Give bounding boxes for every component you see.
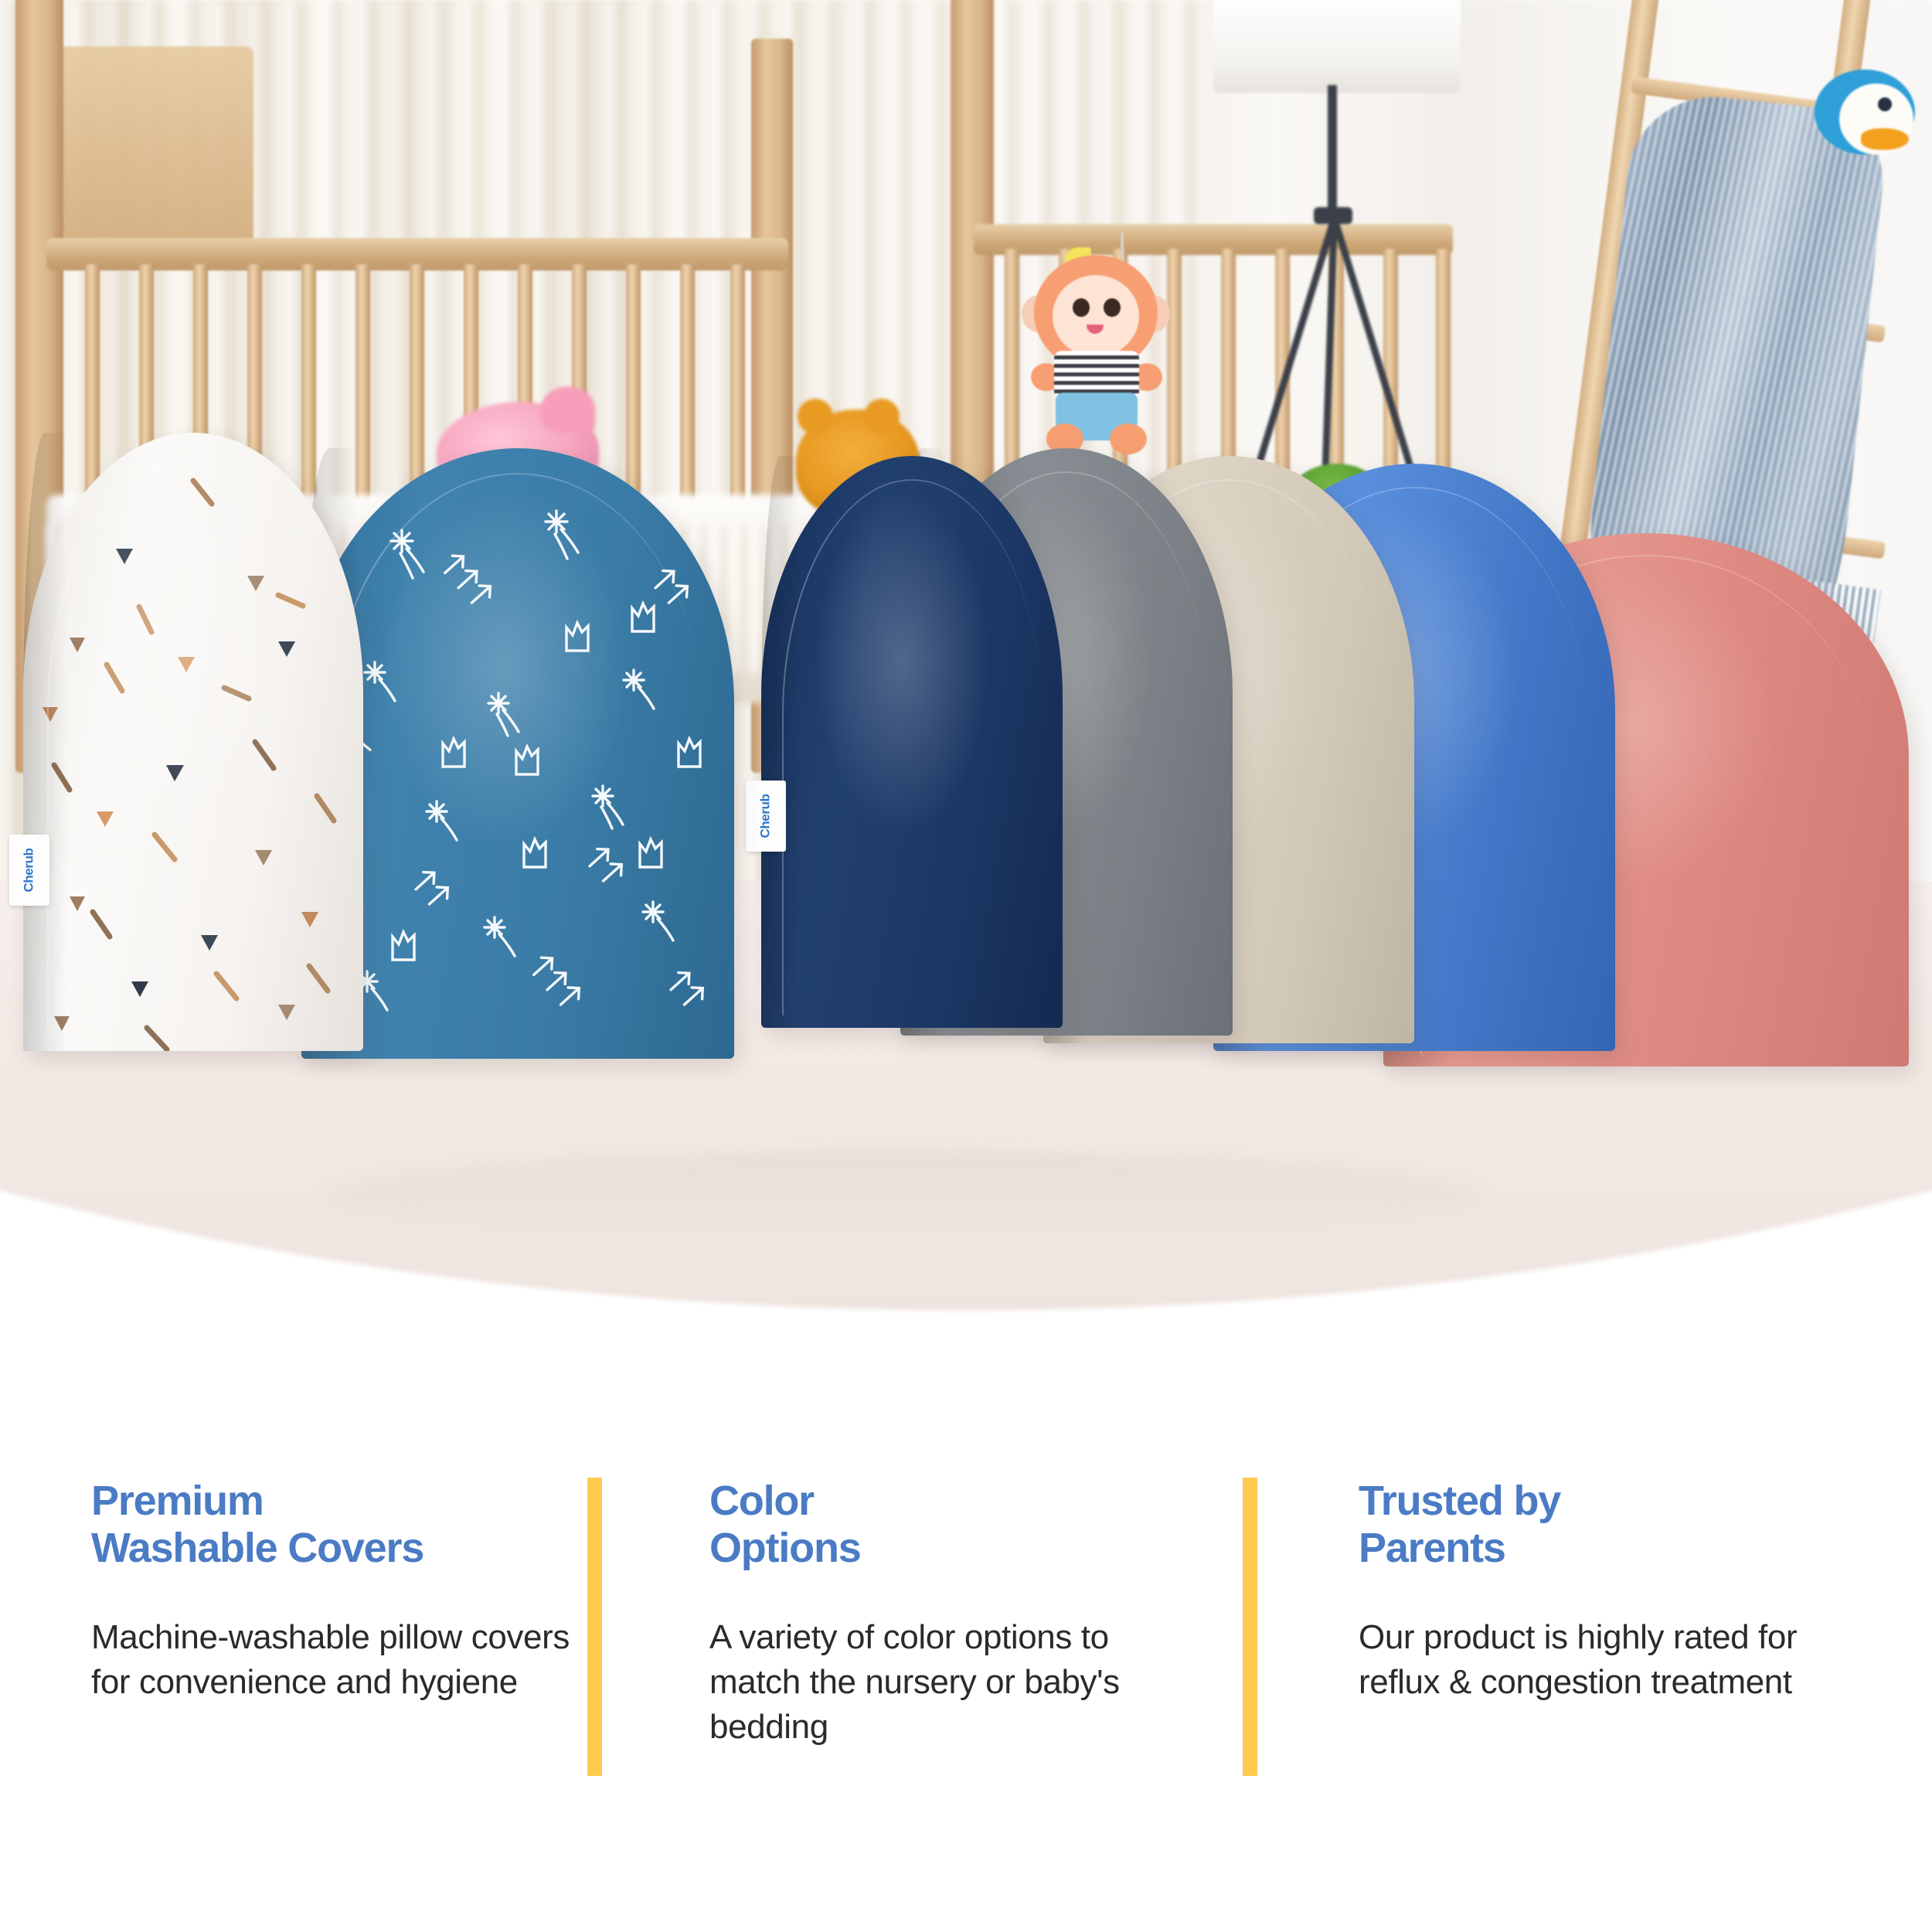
feature-heading: Color Options xyxy=(709,1478,1267,1572)
teddy-ear-left xyxy=(798,399,833,434)
feature-trusted-by-parents: Trusted by Parents Our product is highly… xyxy=(1267,1445,1932,1705)
brand-tag-text: Cherub xyxy=(758,794,774,838)
penguin-beak xyxy=(1861,128,1909,150)
feature-body: Machine-washable pillow covers for conve… xyxy=(91,1615,586,1705)
penguin-eye xyxy=(1878,97,1892,111)
pink-plush-toy-ear xyxy=(541,386,595,433)
crib-headboard xyxy=(45,46,253,255)
brand-tag-navy: Cherub xyxy=(746,781,786,852)
feature-heading: Trusted by Parents xyxy=(1359,1478,1932,1572)
feature-divider-1 xyxy=(587,1478,602,1776)
hero-product-photo: Cherub xyxy=(0,0,1932,1314)
blue-pillow-print xyxy=(301,448,734,1059)
feature-heading: Premium Washable Covers xyxy=(91,1478,618,1572)
monkey-eye-right xyxy=(1104,298,1121,317)
feature-premium-washable-covers: Premium Washable Covers Machine-washable… xyxy=(0,1445,618,1705)
monkey-foot-right xyxy=(1110,423,1147,454)
monkey-face xyxy=(1053,275,1139,357)
lamp-stem xyxy=(1328,85,1337,216)
brand-tag-white: Cherub xyxy=(9,835,49,906)
white-pillow-print xyxy=(23,433,363,1051)
navy-pillow: Cherub xyxy=(761,456,1063,1028)
feature-body: Our product is highly rated for reflux &… xyxy=(1359,1615,1853,1705)
monkey-eye-left xyxy=(1073,298,1090,317)
blue-penguin-plush xyxy=(1807,70,1923,170)
brand-tag-text: Cherub xyxy=(22,848,37,892)
feature-body: A variety of color options to match the … xyxy=(709,1615,1204,1750)
feature-color-options: Color Options A variety of color options… xyxy=(618,1445,1267,1750)
white-patterned-pillow: Cherub xyxy=(23,433,363,1051)
product-feature-card: Cherub xyxy=(0,0,1932,1932)
feature-divider-2 xyxy=(1243,1478,1257,1776)
lamp-shade xyxy=(1213,0,1461,93)
hanging-monkey-plush xyxy=(1020,247,1175,456)
blue-patterned-pillow: Cherub xyxy=(301,448,734,1059)
surface-fold xyxy=(325,1151,1484,1244)
monkey-striped-shirt xyxy=(1054,351,1139,399)
teddy-ear-right xyxy=(864,399,900,434)
features-strip: Premium Washable Covers Machine-washable… xyxy=(0,1445,1932,1847)
